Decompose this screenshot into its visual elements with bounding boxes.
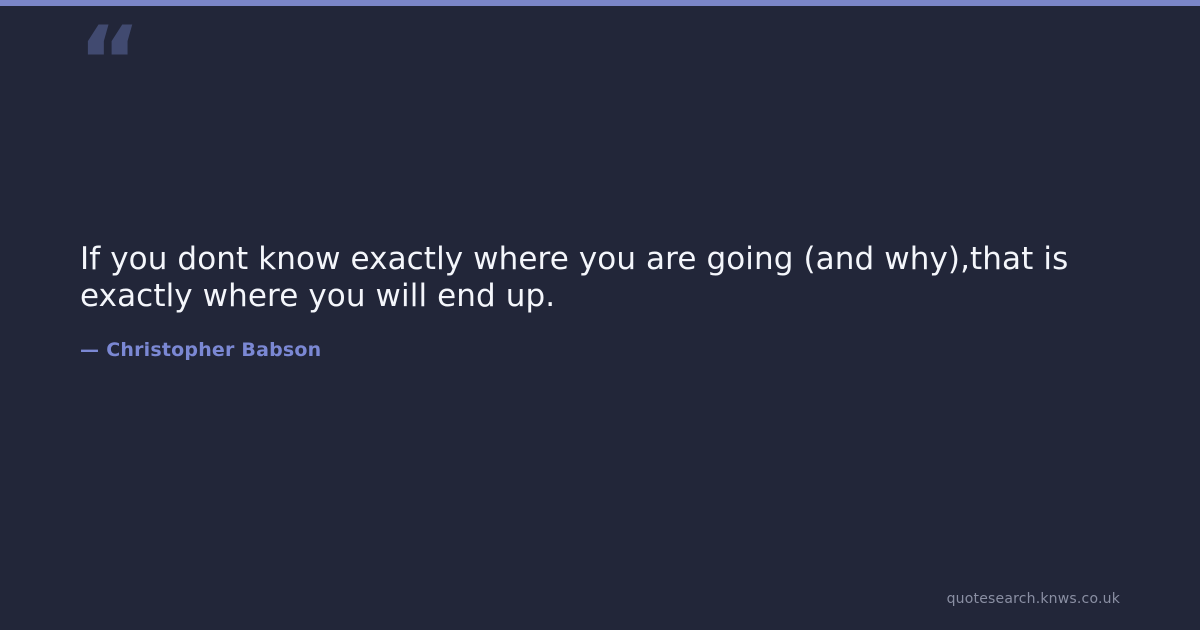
quote-text: If you dont know exactly where you are g… xyxy=(80,241,1125,315)
site-watermark: quotesearch.knws.co.uk xyxy=(947,591,1120,607)
quote-attribution: —Christopher Babson xyxy=(80,339,321,361)
opening-quote-icon: “ xyxy=(78,14,139,110)
top-accent-bar xyxy=(0,0,1200,6)
attribution-dash: — xyxy=(80,339,99,361)
attribution-author: Christopher Babson xyxy=(106,339,321,361)
quote-card: “ If you dont know exactly where you are… xyxy=(0,0,1200,630)
